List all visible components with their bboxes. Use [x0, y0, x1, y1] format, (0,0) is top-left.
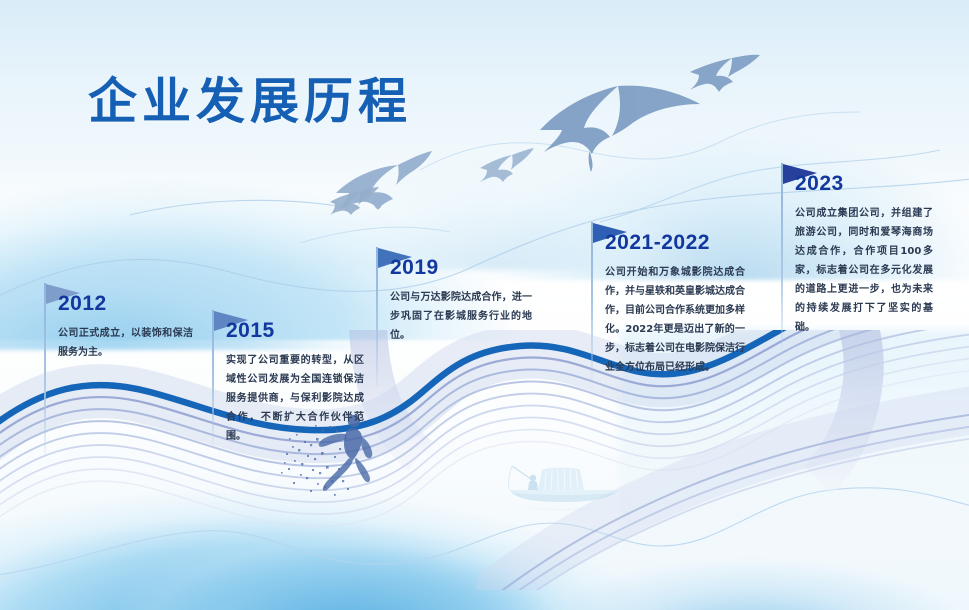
fishing-boat-icon: [500, 460, 630, 520]
bird-icon: [540, 86, 700, 172]
poster-canvas: 企业发展历程 2012 公司正式成立，以装饰和保洁服务为主。 2015 实现了公…: [0, 0, 969, 610]
milestone-description: 公司与万达影院达成合作，进一步巩固了在影城服务行业的地位。: [390, 288, 532, 345]
milestone-year: 2019: [390, 256, 439, 280]
milestone-year: 2012: [58, 292, 107, 316]
milestone-year: 2021-2022: [605, 231, 710, 255]
milestone-description: 公司正式成立，以装饰和保洁服务为主。: [58, 324, 193, 362]
milestone-description: 公司成立集团公司，并组建了旅游公司，同时和爱琴海商场达成合作，合作项目100多家…: [795, 204, 933, 337]
bird-icon: [330, 187, 379, 215]
bird-icon: [480, 148, 534, 182]
bird-icon: [690, 55, 760, 92]
milestone-description: 公司开始和万象城影院达成合作，并与星轶和英皇影城达成合作，目前公司合作系统更加多…: [605, 263, 745, 377]
watercolor-mountain-bottom-right: [540, 545, 969, 610]
flag-pole: [781, 163, 783, 353]
bird-icon: [336, 151, 432, 210]
watercolor-mountain-bottom: [0, 470, 750, 610]
milestone-year: 2015: [226, 319, 275, 343]
watercolor-mountain-bottom-deep: [120, 510, 640, 610]
milestone-description: 实现了公司重要的转型，从区域性公司发展为全国连锁保洁服务提供商，与保利影院达成合…: [226, 351, 364, 446]
wavy-ribbon: [0, 330, 969, 590]
flag-pole: [44, 283, 46, 455]
page-title: 企业发展历程: [88, 62, 412, 133]
milestone-year: 2023: [795, 172, 844, 196]
